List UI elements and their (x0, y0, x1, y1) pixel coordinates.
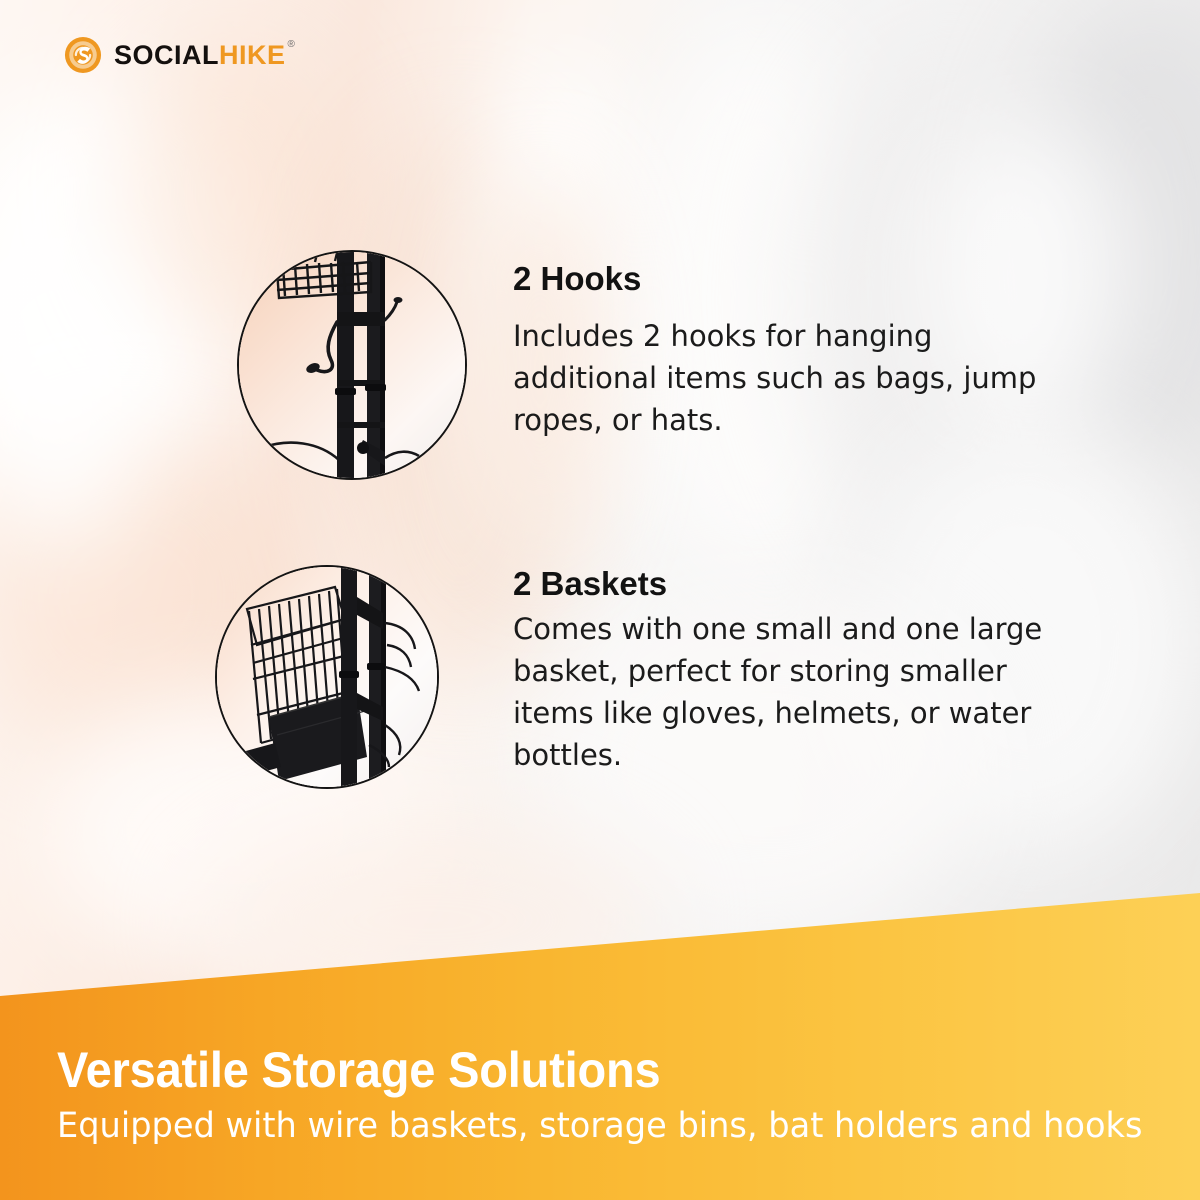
banner-subtitle: Equipped with wire baskets, storage bins… (57, 1106, 1143, 1146)
feature-title-baskets: 2 Baskets (513, 567, 1073, 602)
infographic-canvas: SOCIALHIKE® (0, 0, 1200, 1200)
feature-body-baskets: Comes with one small and one large baske… (513, 608, 1073, 776)
brand-logo: SOCIALHIKE® (64, 36, 295, 74)
rack-hook-photo (237, 250, 467, 480)
feature-body-hooks: Includes 2 hooks for hanging additional … (513, 315, 1073, 441)
banner-gradient-shape (0, 880, 1200, 1200)
feature-title-hooks: 2 Hooks (513, 262, 1073, 297)
brand-name-social: SOCIAL (114, 42, 219, 69)
brand-name-hike: HIKE (219, 42, 286, 69)
feature-text-baskets: 2 Baskets Comes with one small and one l… (513, 567, 1073, 776)
trademark-symbol: ® (288, 40, 296, 50)
brand-wordmark: SOCIALHIKE® (114, 42, 295, 69)
banner-title: Versatile Storage Solutions (57, 1045, 1120, 1096)
bottom-banner: Versatile Storage Solutions Equipped wit… (0, 880, 1200, 1200)
wire-basket-photo (215, 565, 439, 789)
socialhike-swirl-icon (64, 36, 102, 74)
banner-text-group: Versatile Storage Solutions Equipped wit… (57, 1045, 1188, 1146)
feature-text-hooks: 2 Hooks Includes 2 hooks for hanging add… (513, 262, 1073, 441)
